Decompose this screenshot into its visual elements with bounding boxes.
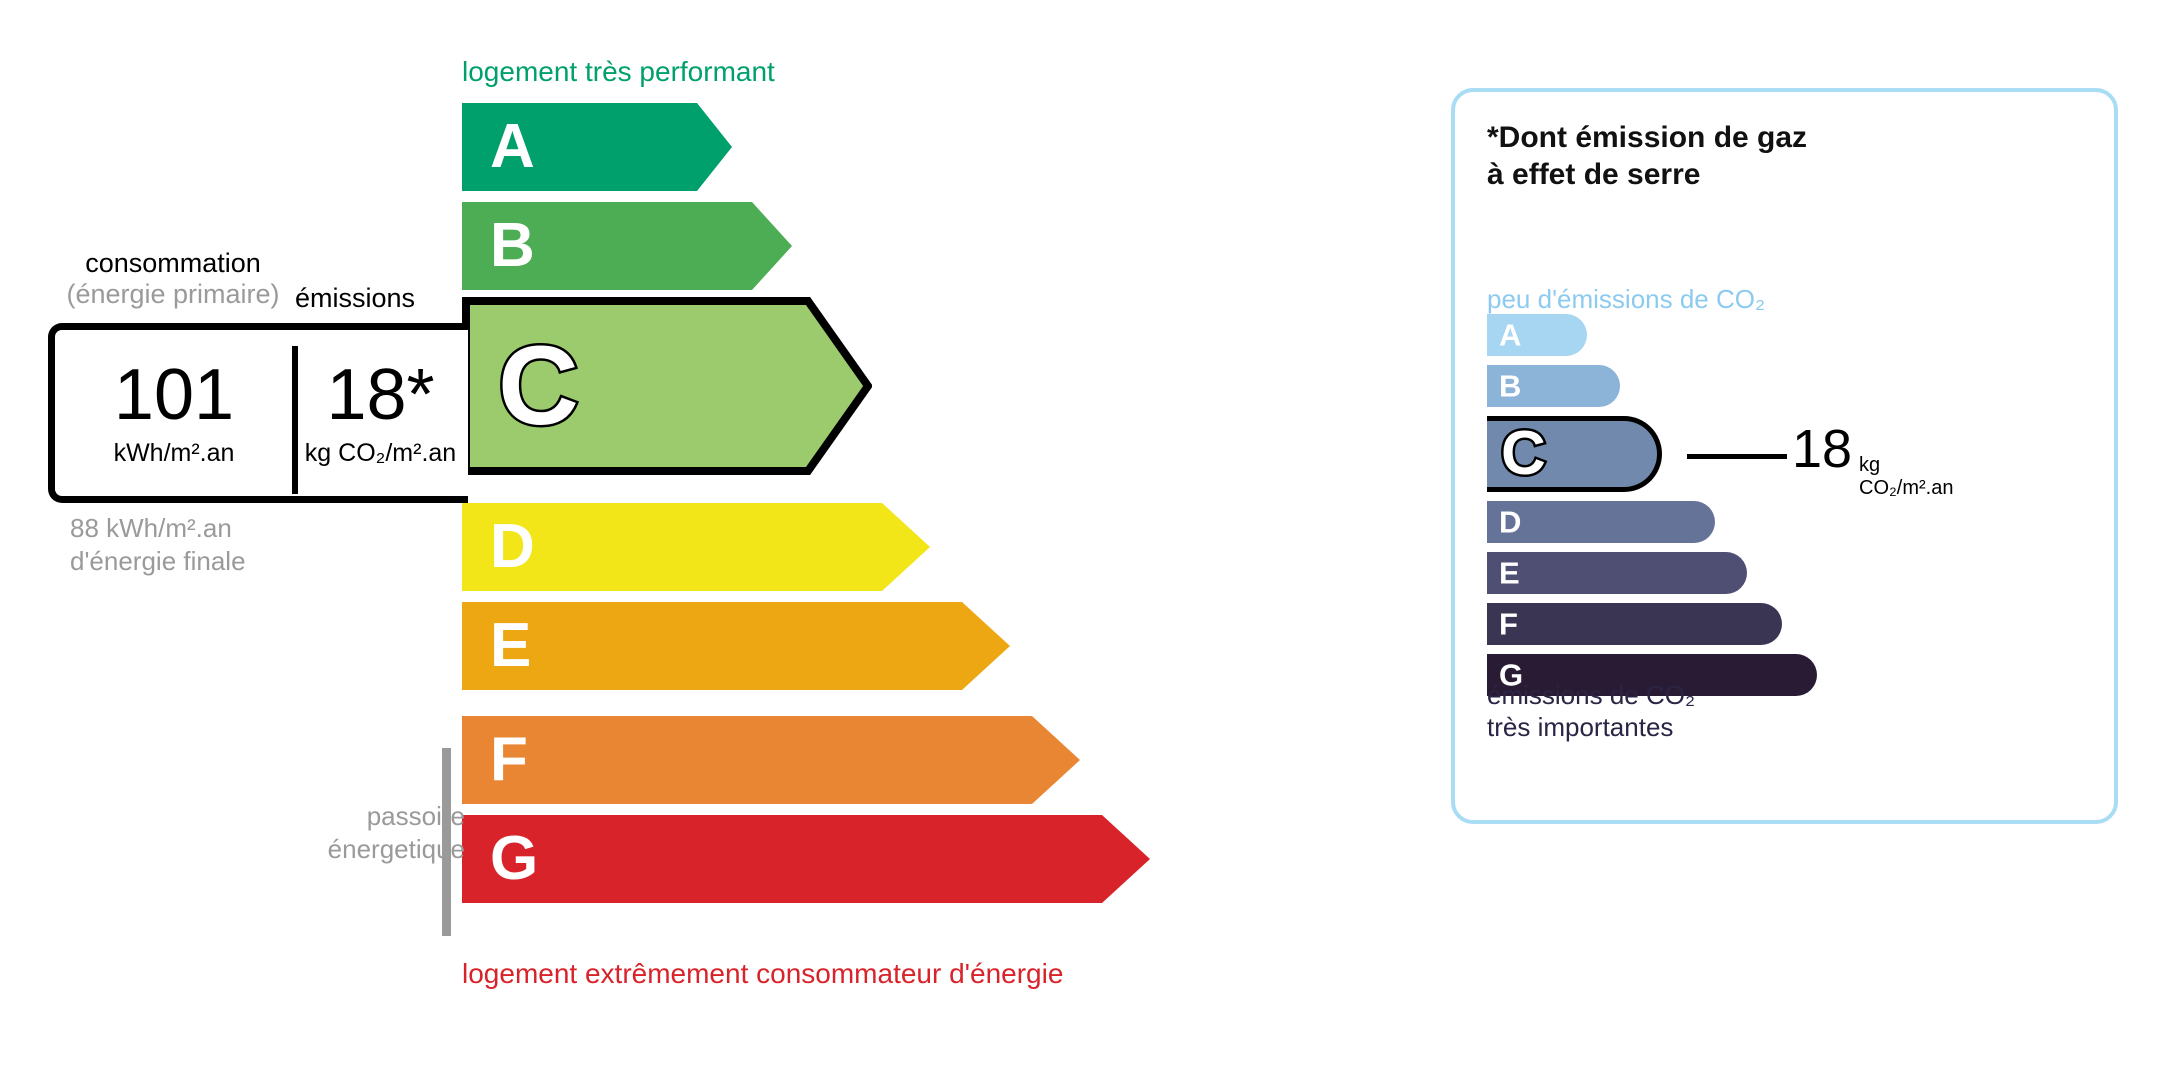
energy-bar-letter-c: C: [498, 330, 579, 442]
co2-bar-b: B: [1487, 365, 1620, 407]
passoire-label: passoire énergetique: [290, 800, 465, 865]
co2-bar-f: F: [1487, 603, 1782, 645]
co2-bar-row-a: A: [1487, 314, 1817, 356]
co2-bar-row-e: E: [1487, 552, 1817, 594]
energie-primaire-sublabel: (énergie primaire): [48, 279, 298, 310]
energy-bar-a: A: [462, 103, 1150, 191]
primary-energy-cell: 101 kWh/m².an: [55, 330, 293, 496]
energy-bar-d: D: [462, 503, 1150, 591]
energy-bar-b: B: [462, 202, 1150, 290]
energy-bar-shape-e: [462, 602, 1010, 690]
emissions-label: émissions: [295, 283, 415, 314]
co2-bar-d: D: [1487, 501, 1715, 543]
co2-value-connector-line: [1687, 454, 1787, 459]
scale-top-caption: logement très performant: [462, 56, 775, 88]
value-box: 101 kWh/m².an 18* kg CO₂/m².an: [48, 323, 468, 503]
co2-bar-row-d: D: [1487, 501, 1817, 543]
co2-bar-letter-b: B: [1499, 371, 1521, 402]
co2-bar-a: A: [1487, 314, 1587, 356]
emissions-value: 18*: [326, 359, 434, 431]
energy-bar-letter-g: G: [490, 828, 538, 890]
energy-bar-f: F: [462, 716, 1150, 804]
primary-energy-value: 101: [114, 359, 234, 431]
consommation-title: consommation: [85, 248, 261, 278]
co2-value: 18: [1792, 422, 1852, 476]
co2-bar-letter-c: C: [1501, 423, 1546, 485]
energy-bar-shape-g: [462, 815, 1150, 903]
energy-bar-letter-a: A: [490, 116, 535, 178]
emissions-cell: 18* kg CO₂/m².an: [293, 330, 468, 496]
co2-bar-letter-a: A: [1499, 320, 1521, 351]
final-energy-label: 88 kWh/m².an d'énergie finale: [70, 512, 246, 577]
co2-bar-e: E: [1487, 552, 1747, 594]
energy-performance-panel: logement très performant ABCDEFG logemen…: [0, 0, 1400, 1079]
primary-energy-unit: kWh/m².an: [114, 439, 235, 468]
emissions-unit: kg CO₂/m².an: [305, 439, 456, 468]
final-energy-caption: d'énergie finale: [70, 545, 246, 578]
co2-bar-letter-f: F: [1499, 609, 1518, 640]
energy-bar-g: G: [462, 815, 1150, 903]
dpe-diagram: logement très performant ABCDEFG logemen…: [0, 0, 2169, 1079]
co2-value-unit: kg CO₂/m².an: [1859, 454, 1953, 500]
energy-bar-c: C: [462, 297, 1150, 475]
co2-grade-bars: ABC18kg CO₂/m².anDEFG: [1487, 314, 1817, 705]
co2-panel-title: *Dont émission de gaz à effet de serre: [1487, 120, 1807, 193]
energy-bar-letter-d: D: [490, 516, 535, 578]
energy-bar-letter-e: E: [490, 615, 531, 677]
co2-bar-letter-d: D: [1499, 507, 1521, 538]
passoire-line-2: énergetique: [290, 833, 465, 866]
energy-bar-shape-f: [462, 716, 1080, 804]
energy-bar-e: E: [462, 602, 1150, 690]
energy-bar-letter-f: F: [490, 729, 528, 791]
co2-bar-letter-e: E: [1499, 558, 1520, 589]
consommation-label: consommation (énergie primaire): [48, 248, 298, 310]
co2-emissions-panel: *Dont émission de gaz à effet de serre p…: [1451, 88, 2118, 824]
co2-scale-top-label: peu d'émissions de CO₂: [1487, 284, 1765, 315]
co2-scale-bottom-label: émissions de CO₂ très importantes: [1487, 680, 1695, 743]
final-energy-value: 88 kWh/m².an: [70, 512, 246, 545]
co2-bar-row-f: F: [1487, 603, 1817, 645]
co2-bar-row-b: B: [1487, 365, 1817, 407]
passoire-line-1: passoire: [290, 800, 465, 833]
co2-bar-row-c: C18kg CO₂/m².an: [1487, 416, 1817, 492]
co2-bar-c: C: [1487, 416, 1662, 492]
energy-bar-letter-b: B: [490, 215, 535, 277]
energy-grade-bars: ABCDEFG: [462, 103, 1150, 914]
scale-bottom-caption: logement extrêmement consommateur d'éner…: [462, 958, 1063, 990]
